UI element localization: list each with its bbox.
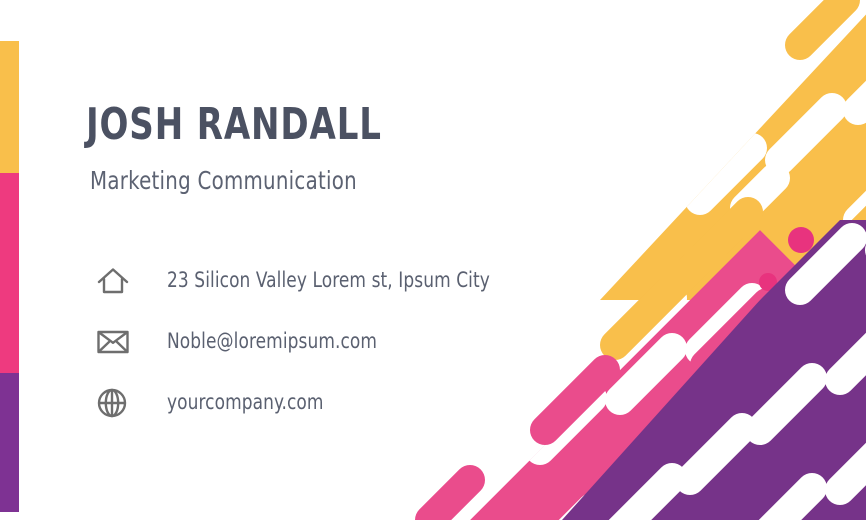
contact-row-address: 23 Silicon Valley Lorem st, Ipsum City xyxy=(96,250,556,311)
business-card: JOSH RANDALL Marketing Communication 23 … xyxy=(0,0,866,520)
card-content: JOSH RANDALL Marketing Communication 23 … xyxy=(0,0,560,520)
yellow-diagonal-block xyxy=(560,0,866,420)
pink-dot-lower xyxy=(759,273,777,291)
pink-dot-upper xyxy=(788,227,814,253)
envelope-icon xyxy=(96,328,142,356)
yellow-trailing-bars xyxy=(615,0,866,395)
person-role: Marketing Communication xyxy=(90,168,357,193)
email-text: Noble@loremipsum.com xyxy=(167,331,377,352)
contact-row-email: Noble@loremipsum.com xyxy=(96,311,556,372)
contact-row-website: yourcompany.com xyxy=(96,372,556,433)
contact-list: 23 Silicon Valley Lorem st, Ipsum City N… xyxy=(96,250,556,433)
website-text: yourcompany.com xyxy=(167,392,324,413)
globe-icon xyxy=(96,387,142,419)
person-name: JOSH RANDALL xyxy=(86,103,382,147)
home-icon xyxy=(96,266,142,296)
address-text: 23 Silicon Valley Lorem st, Ipsum City xyxy=(167,270,490,291)
